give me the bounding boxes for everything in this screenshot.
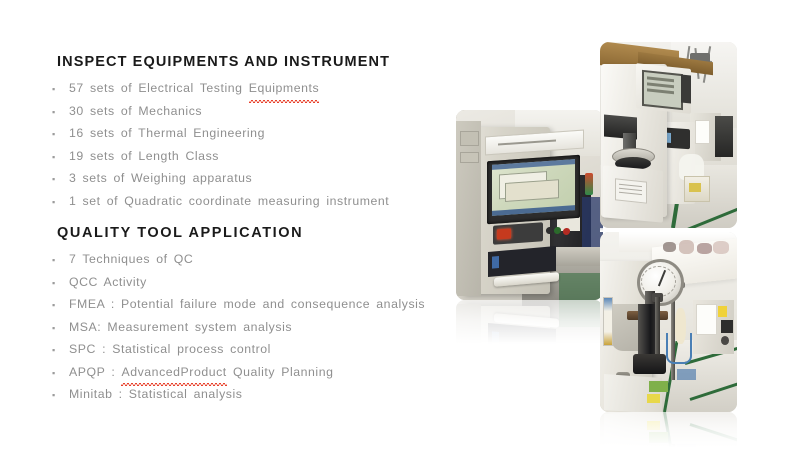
bullet-icon: ▪	[52, 191, 69, 214]
list-item-label: 7 Techniques of QC	[69, 248, 193, 271]
bullet-icon: ▪	[52, 168, 69, 191]
list-item: ▪ 1 set of Quadratic coordinate measurin…	[52, 190, 452, 213]
spellcheck-word: Equipments	[249, 77, 319, 100]
list-item-label: 3 sets of Weighing apparatus	[69, 167, 252, 190]
hardness-testing-bench-photo	[600, 42, 737, 228]
list-item-label: 16 sets of Thermal Engineering	[69, 122, 265, 145]
list-item-label: MSA: Measurement system analysis	[69, 316, 292, 339]
bullet-icon: ▪	[52, 123, 69, 146]
rockwell-hardness-tester-photo	[600, 232, 737, 412]
list-item-label: 57 sets of Electrical Testing	[69, 81, 249, 95]
list-item-tail: Quality Planning	[227, 365, 334, 379]
bullet-icon: ▪	[52, 249, 69, 272]
bullet-icon: ▪	[52, 339, 69, 362]
list-item: ▪ 19 sets of Length Class	[52, 145, 452, 168]
section-heading-quality-tool-application: QUALITY TOOL APPLICATION	[57, 223, 452, 243]
photo-reflection	[456, 300, 603, 356]
bullet-icon: ▪	[52, 272, 69, 295]
environmental-test-chamber-photo	[456, 110, 603, 300]
list-item: ▪ MSA: Measurement system analysis	[52, 316, 452, 339]
list-item: ▪ FMEA : Potential failure mode and cons…	[52, 293, 452, 316]
list-item: ▪ APQP : AdvancedProduct Quality Plannin…	[52, 361, 452, 384]
list-item: ▪ 3 sets of Weighing apparatus	[52, 167, 452, 190]
photo-reflection	[600, 412, 737, 457]
list-item-label: Minitab : Statistical analysis	[69, 383, 242, 406]
list-item-label: QCC Activity	[69, 271, 147, 294]
photo-scene	[600, 42, 737, 228]
list-item: ▪ 57 sets of Electrical Testing Equipmen…	[52, 77, 452, 100]
list-item-label: SPC : Statistical process control	[69, 338, 271, 361]
content-text-column: INSPECT EQUIPMENTS AND INSTRUMENT ▪ 57 s…	[52, 52, 452, 406]
list-item-label: FMEA : Potential failure mode and conseq…	[69, 293, 425, 316]
section-heading-inspect-equipments: INSPECT EQUIPMENTS AND INSTRUMENT	[57, 52, 452, 72]
list-item-label: APQP :	[69, 365, 121, 379]
bullet-icon: ▪	[52, 294, 69, 317]
list-item: ▪ 30 sets of Mechanics	[52, 100, 452, 123]
bullet-icon: ▪	[52, 362, 69, 385]
slide-canvas: INSPECT EQUIPMENTS AND INSTRUMENT ▪ 57 s…	[0, 0, 812, 457]
list-item-label: 30 sets of Mechanics	[69, 100, 202, 123]
bullet-icon: ▪	[52, 78, 69, 101]
spellcheck-word: AdvancedProduct	[121, 361, 226, 384]
bullet-icon: ▪	[52, 317, 69, 340]
list-item: ▪ Minitab : Statistical analysis	[52, 383, 452, 406]
list-item-label: 1 set of Quadratic coordinate measuring …	[69, 190, 389, 213]
photo-scene	[600, 232, 737, 412]
bullet-list-inspect-equipments: ▪ 57 sets of Electrical Testing Equipmen…	[52, 77, 452, 212]
photo-scene	[456, 110, 603, 300]
bullet-list-quality-tool-application: ▪ 7 Techniques of QC ▪ QCC Activity ▪ FM…	[52, 248, 452, 406]
list-item: ▪ 16 sets of Thermal Engineering	[52, 122, 452, 145]
list-item-label: 19 sets of Length Class	[69, 145, 219, 168]
bullet-icon: ▪	[52, 384, 69, 407]
bullet-icon: ▪	[52, 146, 69, 169]
bullet-icon: ▪	[52, 101, 69, 124]
list-item: ▪ 7 Techniques of QC	[52, 248, 452, 271]
list-item: ▪ SPC : Statistical process control	[52, 338, 452, 361]
list-item: ▪ QCC Activity	[52, 271, 452, 294]
